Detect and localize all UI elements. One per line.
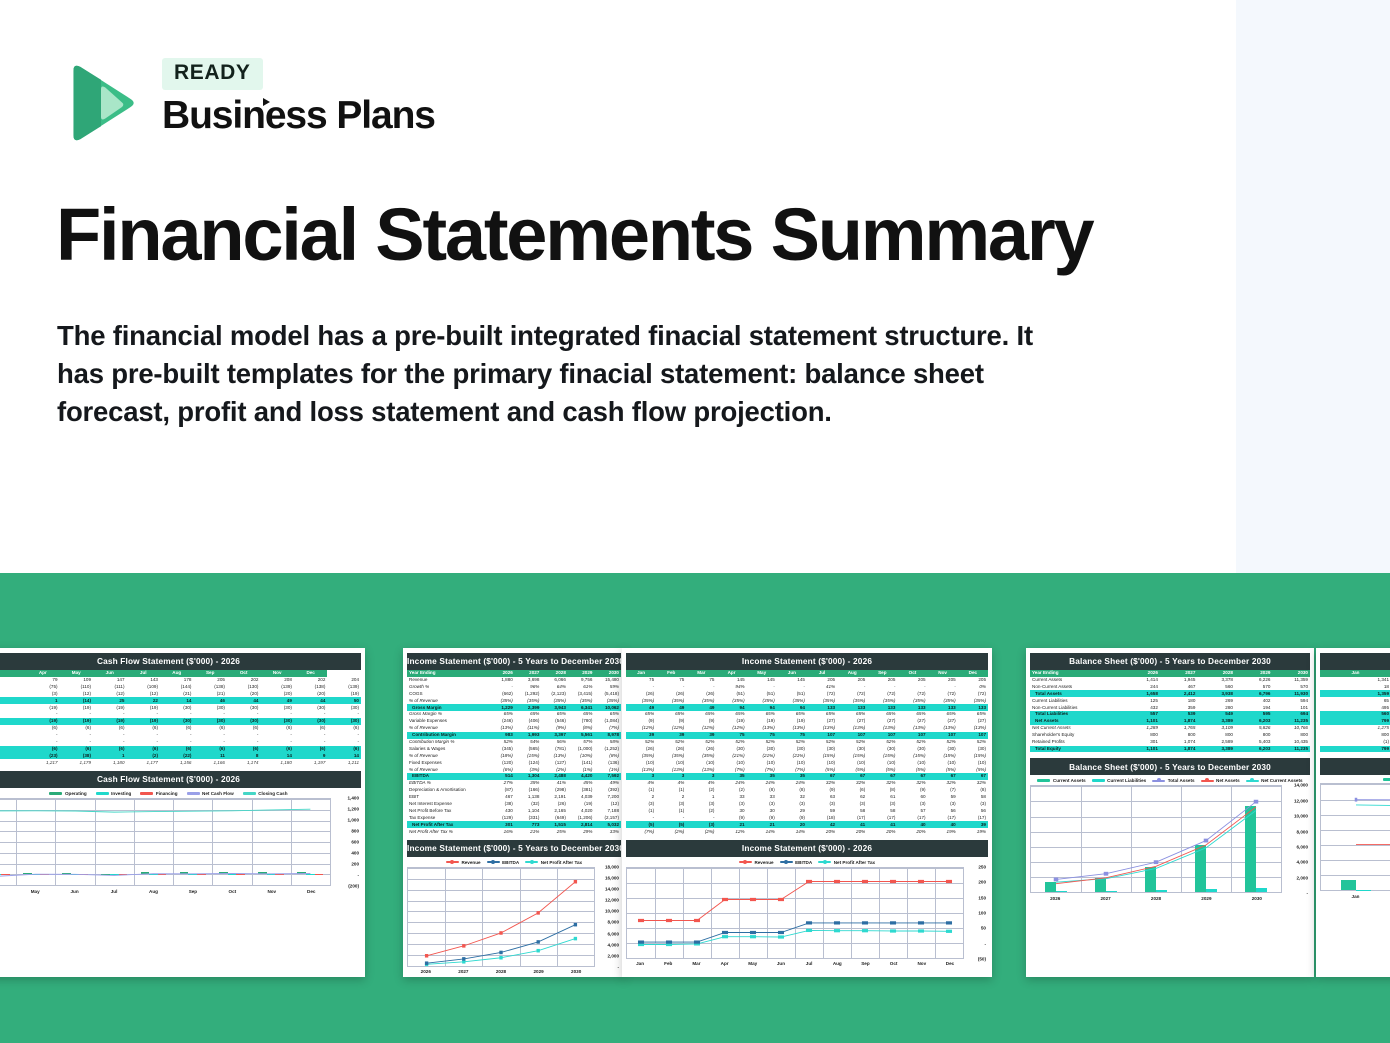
table-cell: 52% xyxy=(958,739,988,746)
table-cell: 35% xyxy=(515,780,542,787)
data-marker xyxy=(499,951,502,955)
table-cell: 58 xyxy=(958,794,988,801)
table-cell: 49 xyxy=(626,704,656,711)
x-tick-label: Aug xyxy=(823,959,851,967)
table-cell: 62 xyxy=(837,794,867,801)
table-cell: (13%) xyxy=(777,725,807,732)
data-marker xyxy=(890,929,896,932)
table-cell: (13%) xyxy=(837,725,867,732)
y-tick-label: 18,000 xyxy=(605,864,619,869)
table-cell: (3) xyxy=(897,801,927,808)
table-row: Fixed Expenses(120)(124)(127)(141)(136) xyxy=(407,759,621,766)
y-tick-label: 8,000 xyxy=(1297,829,1309,834)
table-cell: (35%) xyxy=(867,697,897,704)
table-cell: 107 xyxy=(807,732,837,739)
table-cell: 1,104 xyxy=(515,808,542,815)
row-label: Non-Current Assets xyxy=(1030,684,1122,691)
table-cell: - xyxy=(777,684,807,691)
balance-5y-y-axis: 14,00012,00010,0008,0006,0004,0002,000- xyxy=(1282,785,1310,893)
y-tick-label: 14,000 xyxy=(605,887,619,892)
table-cell: (30) xyxy=(716,746,746,753)
table-cell: (10%) xyxy=(568,752,595,759)
table-cell: (1) xyxy=(1320,739,1390,746)
table-cell: 41% xyxy=(807,684,837,691)
data-marker xyxy=(862,921,868,924)
table-row: Net Current Assets1,2891,7653,1095,82610… xyxy=(1030,725,1310,732)
table-cell: 14 xyxy=(260,752,293,759)
income-5y-screenshot-panel[interactable]: Income Statement ($'000) - 5 Years to De… xyxy=(403,648,625,977)
table-row: % of Revenue(6%)(3%)(2%)(1%)(1%) xyxy=(407,766,621,773)
table-cell: 29 xyxy=(777,808,807,815)
legend-label: Financing xyxy=(156,791,178,796)
column-header: Oct xyxy=(897,670,927,677)
table-cell: 694 xyxy=(1272,711,1310,718)
table-cell: (19) xyxy=(327,690,361,697)
table-row: 494949949494133133133133133133 xyxy=(626,704,988,711)
table-cell: 14 xyxy=(327,752,361,759)
table-row: Growth %-96%64%61%59% xyxy=(407,684,621,691)
data-line xyxy=(1356,805,1390,806)
table-cell: 30 xyxy=(716,808,746,815)
table-row: Total Assets1,6582,4123,9386,79611,930 xyxy=(1030,690,1310,697)
table-cell: 2,412 xyxy=(1160,690,1198,697)
page-title: Financial Statements Summary xyxy=(56,198,1092,272)
table-cell: - xyxy=(26,732,59,739)
table-cell: 4,420 xyxy=(568,773,595,780)
table-cell: 773 xyxy=(515,821,542,828)
table-cell: 14% xyxy=(747,828,777,835)
table-cell: 20% xyxy=(837,828,867,835)
data-marker xyxy=(722,931,728,934)
table-cell: - xyxy=(160,732,193,739)
table-cell: 46 xyxy=(193,697,226,704)
table-cell: (7) xyxy=(928,787,958,794)
table-cell: (5) xyxy=(656,821,686,828)
table-cell: 1,217 xyxy=(26,759,59,766)
balance-2026-chart-title xyxy=(1320,758,1390,775)
income-5y-chart-title: Income Statement ($'000) - 5 Years to De… xyxy=(407,840,621,857)
column-header: 2027 xyxy=(515,670,542,677)
row-label: Net Profit After Tax % xyxy=(407,828,488,835)
table-row: Revenue1,8803,6986,0669,75615,480 xyxy=(407,677,621,684)
table-cell: (35%) xyxy=(656,697,686,704)
table-cell: (17) xyxy=(837,814,867,821)
table-cell: - xyxy=(686,684,716,691)
table-cell: (5%) xyxy=(867,766,897,773)
table-cell: 19% xyxy=(958,828,988,835)
legend-item: Net Assets xyxy=(1201,778,1240,783)
table-cell: 75 xyxy=(777,732,807,739)
table-cell: 2,191 xyxy=(541,794,568,801)
table-row: Variable Expenses(246)(406)(546)(780)(1,… xyxy=(407,718,621,725)
table-cell: 52% xyxy=(626,739,656,746)
data-marker xyxy=(1104,872,1109,876)
balance-2026-screenshot-panel[interactable]: JanFeb 1,3411,32318361,3591,359657249548… xyxy=(1316,648,1390,977)
table-row: 65%65%65%65%65%65%65%65%65%65%65%65% xyxy=(626,711,988,718)
table-cell: 63 xyxy=(807,794,837,801)
row-label xyxy=(0,697,26,704)
income-5y-table: Year Ending20262027202820292030 Revenue1… xyxy=(407,670,621,835)
table-cell: (3) xyxy=(867,801,897,808)
table-cell: (10) xyxy=(867,759,897,766)
legend-item: EBITDA xyxy=(487,860,520,865)
cashflow-screenshot-panel[interactable]: Cash Flow Statement ($'000) - 2026 AprMa… xyxy=(0,648,365,977)
row-label: Total Equity xyxy=(1030,746,1122,753)
row-label: Gross Margin xyxy=(407,704,488,711)
table-cell: (331) xyxy=(515,814,542,821)
table-cell: 65% xyxy=(656,711,686,718)
column-header: Jun xyxy=(777,670,807,677)
x-tick-label: 2029 xyxy=(1181,893,1231,901)
data-marker xyxy=(638,919,644,922)
table-cell: 10,062 xyxy=(594,704,621,711)
table-cell: (18%) xyxy=(488,752,515,759)
table-cell: 32% xyxy=(807,780,837,787)
table-cell: 595 xyxy=(1235,711,1273,718)
table-cell: (30) xyxy=(160,718,193,725)
data-marker xyxy=(462,957,465,961)
table-cell: (13%) xyxy=(747,725,777,732)
table-cell: 1 xyxy=(26,697,59,704)
table-cell: (30) xyxy=(807,746,837,753)
table-cell: 107 xyxy=(837,732,867,739)
table-cell: (1) xyxy=(626,808,656,815)
table-cell: 202 xyxy=(294,677,327,684)
table-cell: - xyxy=(193,711,226,718)
table-cell: (27) xyxy=(807,718,837,725)
y-tick-label: 2,000 xyxy=(608,953,620,958)
legend-label: Revenue xyxy=(461,860,480,865)
column-header: 2028 xyxy=(1197,670,1235,677)
table-cell: 6,203 xyxy=(1235,746,1273,753)
table-cell: 145 xyxy=(777,677,807,684)
table-cell: 3,389 xyxy=(1197,718,1235,725)
table-row: (1)(1)(2)303029595858575656 xyxy=(626,808,988,815)
table-cell: (21) xyxy=(160,690,193,697)
table-row: Net Assets1,1011,8743,3896,20311,235 xyxy=(1030,718,1310,725)
legend-swatch xyxy=(487,861,500,863)
y-tick-label: 200 xyxy=(351,862,359,867)
table-cell: 1,180 xyxy=(260,759,293,766)
legend-item: Current Liabilities xyxy=(1092,778,1147,783)
table-cell: (30) xyxy=(193,718,226,725)
table-cell: (6) xyxy=(160,725,193,732)
column-header: Dec xyxy=(294,670,327,677)
column-header: Apr xyxy=(716,670,746,677)
table-cell: 2 xyxy=(626,794,656,801)
data-marker xyxy=(462,944,465,948)
income-2026-screenshot-panel[interactable]: Income Statement ($'000) - 2026 JanFebMa… xyxy=(622,648,992,977)
legend-label: Current Liabilities xyxy=(1107,778,1146,783)
table-cell: (138) xyxy=(193,684,226,691)
table-cell: 3 xyxy=(656,773,686,780)
legend-label: Total Assets xyxy=(1168,778,1195,783)
table-cell: (8%) xyxy=(568,725,595,732)
table-cell: (345) xyxy=(488,746,515,753)
table-row: (35%)(35%)(35%)(35%)(35%)(35%)(35%)(35%)… xyxy=(626,697,988,704)
table-cell: (2,123) xyxy=(541,690,568,697)
table-cell: (12) xyxy=(60,690,93,697)
data-marker xyxy=(499,931,502,935)
table-cell: 205 xyxy=(193,677,226,684)
table-cell: 205 xyxy=(897,677,927,684)
data-line xyxy=(427,882,576,956)
table-cell: - xyxy=(60,711,93,718)
table-cell: 52% xyxy=(928,739,958,746)
table-cell: (26) xyxy=(656,746,686,753)
table-cell: (3) xyxy=(716,801,746,808)
table-cell: (9) xyxy=(777,814,807,821)
x-tick-label: Jan xyxy=(626,959,654,967)
table-cell: (565) xyxy=(515,746,542,753)
table-cell: 57% xyxy=(568,739,595,746)
x-tick-label: Jul xyxy=(795,959,823,967)
table-row: Non-Current Assets244467560570570 xyxy=(1030,684,1310,691)
table-cell: (10) xyxy=(686,759,716,766)
table-cell: 52% xyxy=(488,739,515,746)
table-cell: (30) xyxy=(837,746,867,753)
table-row: 560561 xyxy=(1320,711,1390,718)
table-cell: 495 xyxy=(1320,704,1390,711)
legend-item: Investing xyxy=(96,791,132,796)
table-cell: 40 xyxy=(928,821,958,828)
table-cell: - xyxy=(867,684,897,691)
row-label xyxy=(0,759,26,766)
table-row: Gross Margin1,2292,3993,9436,34110,062 xyxy=(407,704,621,711)
table-cell: 10,766 xyxy=(1272,725,1310,732)
balance-5y-screenshot-panel[interactable]: Balance Sheet ($'000) - 5 Years to Decem… xyxy=(1026,648,1314,977)
table-cell: 1,341 xyxy=(1320,677,1390,684)
y-tick-label: 12,000 xyxy=(1294,798,1308,803)
table-cell: (19) xyxy=(60,718,93,725)
table-cell: 800 xyxy=(1320,732,1390,739)
row-label: Retained Profits xyxy=(1030,739,1122,746)
table-cell: 39 xyxy=(656,732,686,739)
table-cell: 30 xyxy=(747,808,777,815)
table-cell: 44 xyxy=(227,697,260,704)
balance-5y-chart-block: Balance Sheet ($'000) - 5 Years to Decem… xyxy=(1030,758,1310,900)
table-cell: (19) xyxy=(93,718,126,725)
table-cell: 67 xyxy=(958,773,988,780)
column-header: Aug xyxy=(837,670,867,677)
column-header: 2029 xyxy=(568,670,595,677)
income-5y-plot-area xyxy=(407,867,595,967)
data-marker xyxy=(1154,861,1159,865)
table-cell: (19) xyxy=(568,801,595,808)
table-cell: 208 xyxy=(260,677,293,684)
table-row: (7%)(2%)(2%)12%14%14%20%20%20%20%19%19% xyxy=(626,828,988,835)
table-cell: (27) xyxy=(928,718,958,725)
table-cell: 67 xyxy=(897,773,927,780)
x-tick-label: Mar xyxy=(682,959,710,967)
table-cell: (87) xyxy=(488,787,515,794)
table-cell: 35 xyxy=(716,773,746,780)
x-tick-label: 2027 xyxy=(1080,893,1130,901)
column-header: Jan xyxy=(626,670,656,677)
table-cell: 52% xyxy=(867,739,897,746)
y-tick-label: 4,000 xyxy=(608,942,620,947)
table-cell: 52% xyxy=(686,739,716,746)
table-cell: 205 xyxy=(837,677,867,684)
table-cell: (6) xyxy=(327,746,361,753)
table-cell: (15%) xyxy=(958,752,988,759)
table-cell: 1,101 xyxy=(1122,718,1160,725)
y-tick-label: 600 xyxy=(351,840,359,845)
table-cell: 94 xyxy=(747,704,777,711)
table-cell: 180 xyxy=(1160,697,1198,704)
table-row: 4%4%4%24%24%24%32%32%32%32%32%32% xyxy=(626,780,988,787)
legend-label: Operating xyxy=(65,791,87,796)
y-tick-label: 10,000 xyxy=(1294,814,1308,819)
table-cell: (3) xyxy=(837,801,867,808)
table-cell: 359 xyxy=(1160,704,1198,711)
table-cell: 6,796 xyxy=(1235,690,1273,697)
legend-item: Total Assets xyxy=(1152,778,1194,783)
table-cell: (51) xyxy=(777,690,807,697)
table-cell: (141) xyxy=(568,759,595,766)
row-label xyxy=(0,677,26,684)
table-cell: 570 xyxy=(1235,684,1273,691)
table-cell: - xyxy=(160,739,193,746)
legend-item: Net Profit After Tax xyxy=(818,860,875,865)
table-row: 1,2171,1791,1801,1771,1561,1661,1741,180… xyxy=(0,759,361,766)
y-tick-label: 8,000 xyxy=(608,920,620,925)
table-cell: (23) xyxy=(26,752,59,759)
income-2026-chart-title: Income Statement ($'000) - 2026 xyxy=(626,840,988,857)
data-marker xyxy=(1054,878,1059,882)
table-cell: (35%) xyxy=(837,697,867,704)
column-header: Sep xyxy=(867,670,897,677)
table-cell: 32% xyxy=(867,780,897,787)
income-2026-y-axis: 25020015010050-(50) xyxy=(964,867,988,959)
table-cell: 125 xyxy=(1122,697,1160,704)
table-cell: (72) xyxy=(867,690,897,697)
table-cell: (6) xyxy=(26,725,59,732)
table-cell: 1,179 xyxy=(60,759,93,766)
table-cell: (1,000) xyxy=(568,746,595,753)
series-layer xyxy=(0,799,330,885)
data-marker xyxy=(834,921,840,924)
legend-item: Financing xyxy=(140,791,177,796)
cashflow-chart-legend: OperatingInvestingFinancingNet Cash Flow… xyxy=(0,788,361,798)
table-cell: (110) xyxy=(60,684,93,691)
table-cell: (19) xyxy=(93,704,126,711)
income-2026-chart-block: Income Statement ($'000) - 2026 RevenueE… xyxy=(626,840,988,966)
table-cell: (381) xyxy=(568,787,595,794)
row-label: Salaries & Wages xyxy=(407,746,488,753)
table-row: 333353535676767676767 xyxy=(626,773,988,780)
table-cell: 1,945 xyxy=(1160,677,1198,684)
table-cell: - xyxy=(260,732,293,739)
table-cell: 25 xyxy=(93,697,126,704)
table-row: EBITDA5141,3042,4884,4207,592 xyxy=(407,773,621,780)
x-tick-label: Jun xyxy=(767,959,795,967)
table-cell: 21 xyxy=(747,821,777,828)
table-cell: (1,292) xyxy=(515,690,542,697)
x-tick-label: May xyxy=(739,959,767,967)
y-tick-label: 6,000 xyxy=(1297,844,1309,849)
table-cell: 49 xyxy=(656,704,686,711)
table-cell: (17) xyxy=(928,814,958,821)
data-marker xyxy=(425,961,428,965)
table-cell: 33% xyxy=(594,828,621,835)
legend-swatch xyxy=(780,861,793,863)
table-cell: 15,480 xyxy=(594,677,621,684)
table-row: Tax Expense(129)(331)(649)(1,206)(2,157) xyxy=(407,814,621,821)
legend-label: Net Assets xyxy=(1216,778,1240,783)
table-cell: (12) xyxy=(127,690,160,697)
table-cell: (1,206) xyxy=(568,814,595,821)
balance-5y-table-title: Balance Sheet ($'000) - 5 Years to Decem… xyxy=(1030,653,1310,670)
table-cell: 20% xyxy=(867,828,897,835)
table-cell: 39 xyxy=(626,732,656,739)
table-row: % of Revenue(13%)(11%)(9%)(8%)(7%) xyxy=(407,725,621,732)
balance-5y-plot-area xyxy=(1030,785,1282,893)
table-cell: (6) xyxy=(260,725,293,732)
table-cell: (51) xyxy=(716,690,746,697)
legend-item: Net Cash Flow xyxy=(187,791,234,796)
column-header: 2027 xyxy=(1160,670,1198,677)
table-cell: (30) xyxy=(160,704,193,711)
data-marker xyxy=(750,931,756,934)
x-tick-label: 2030 xyxy=(557,967,595,975)
table-cell: (30) xyxy=(260,704,293,711)
table-cell: 65% xyxy=(867,711,897,718)
column-header: Nov xyxy=(260,670,293,677)
table-cell: 1,177 xyxy=(127,759,160,766)
table-cell: (30) xyxy=(327,704,361,711)
table-cell: 65% xyxy=(568,711,595,718)
table-cell: (17) xyxy=(867,814,897,821)
table-cell: 133 xyxy=(867,704,897,711)
table-cell: 19% xyxy=(928,828,958,835)
table-row: 1836 xyxy=(1320,684,1390,691)
table-cell: (21%) xyxy=(747,752,777,759)
cashflow-chart-block: Cash Flow Statement ($'000) - 2026 Opera… xyxy=(0,771,361,893)
y-tick-label: 1,000 xyxy=(348,818,360,823)
row-label: Revenue xyxy=(407,677,488,684)
table-cell: (2) xyxy=(127,752,160,759)
table-cell: (21%) xyxy=(777,752,807,759)
series-layer xyxy=(1031,786,1281,892)
legend-label: Net Cash Flow xyxy=(202,791,234,796)
table-cell: (20) xyxy=(260,690,293,697)
table-cell: 58% xyxy=(594,739,621,746)
table-cell: (2%) xyxy=(541,766,568,773)
table-row: (1)(2) xyxy=(1320,739,1390,746)
table-row: (3)(12)(12)(12)(21)(21)(20)(20)(20)(19) xyxy=(0,690,361,697)
row-label: % of Revenue xyxy=(407,752,488,759)
table-row: Current Assets1,4141,9453,3786,22611,359 xyxy=(1030,677,1310,684)
table-cell: 557 xyxy=(1122,711,1160,718)
row-label: COGS xyxy=(407,690,488,697)
table-cell: 1,174 xyxy=(227,759,260,766)
table-cell: (109) xyxy=(127,684,160,691)
data-marker xyxy=(750,898,756,901)
table-cell: 133 xyxy=(807,704,837,711)
table-cell: 1,359 xyxy=(1320,690,1390,697)
x-tick-label: Nov xyxy=(252,886,291,894)
table-cell: (12%) xyxy=(686,725,716,732)
table-cell: (22) xyxy=(160,752,193,759)
data-marker xyxy=(574,923,577,927)
table-cell: (35%) xyxy=(488,697,515,704)
table-cell: 178 xyxy=(160,677,193,684)
table-cell: 29% xyxy=(568,828,595,835)
table-cell: (72) xyxy=(897,690,927,697)
table-cell: - xyxy=(294,739,327,746)
table-cell: (3) xyxy=(656,801,686,808)
